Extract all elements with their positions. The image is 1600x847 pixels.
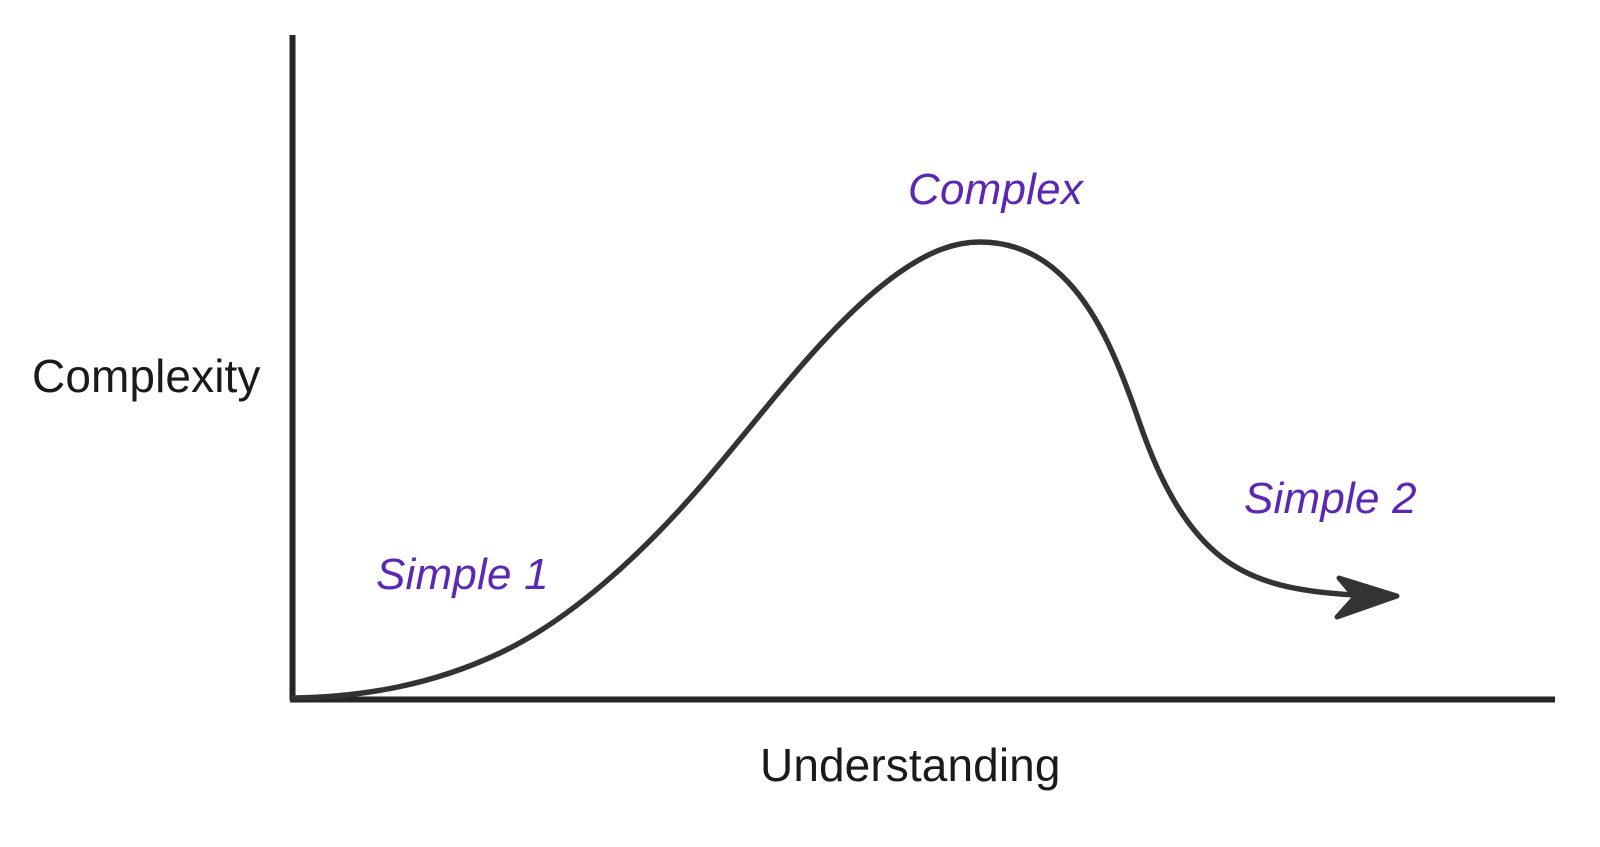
complexity-understanding-curve xyxy=(0,0,1600,847)
complexity-curve xyxy=(293,242,1355,698)
y-axis-label: Complexity xyxy=(32,353,261,399)
diagram-canvas: Complexity Understanding Simple 1 Comple… xyxy=(0,0,1600,847)
annotation-simple-2: Simple 2 xyxy=(1244,477,1417,521)
annotation-simple-1: Simple 1 xyxy=(376,553,549,597)
arrowhead-icon xyxy=(1337,578,1397,617)
x-axis-label: Understanding xyxy=(760,742,1061,788)
annotation-complex: Complex xyxy=(908,168,1083,212)
